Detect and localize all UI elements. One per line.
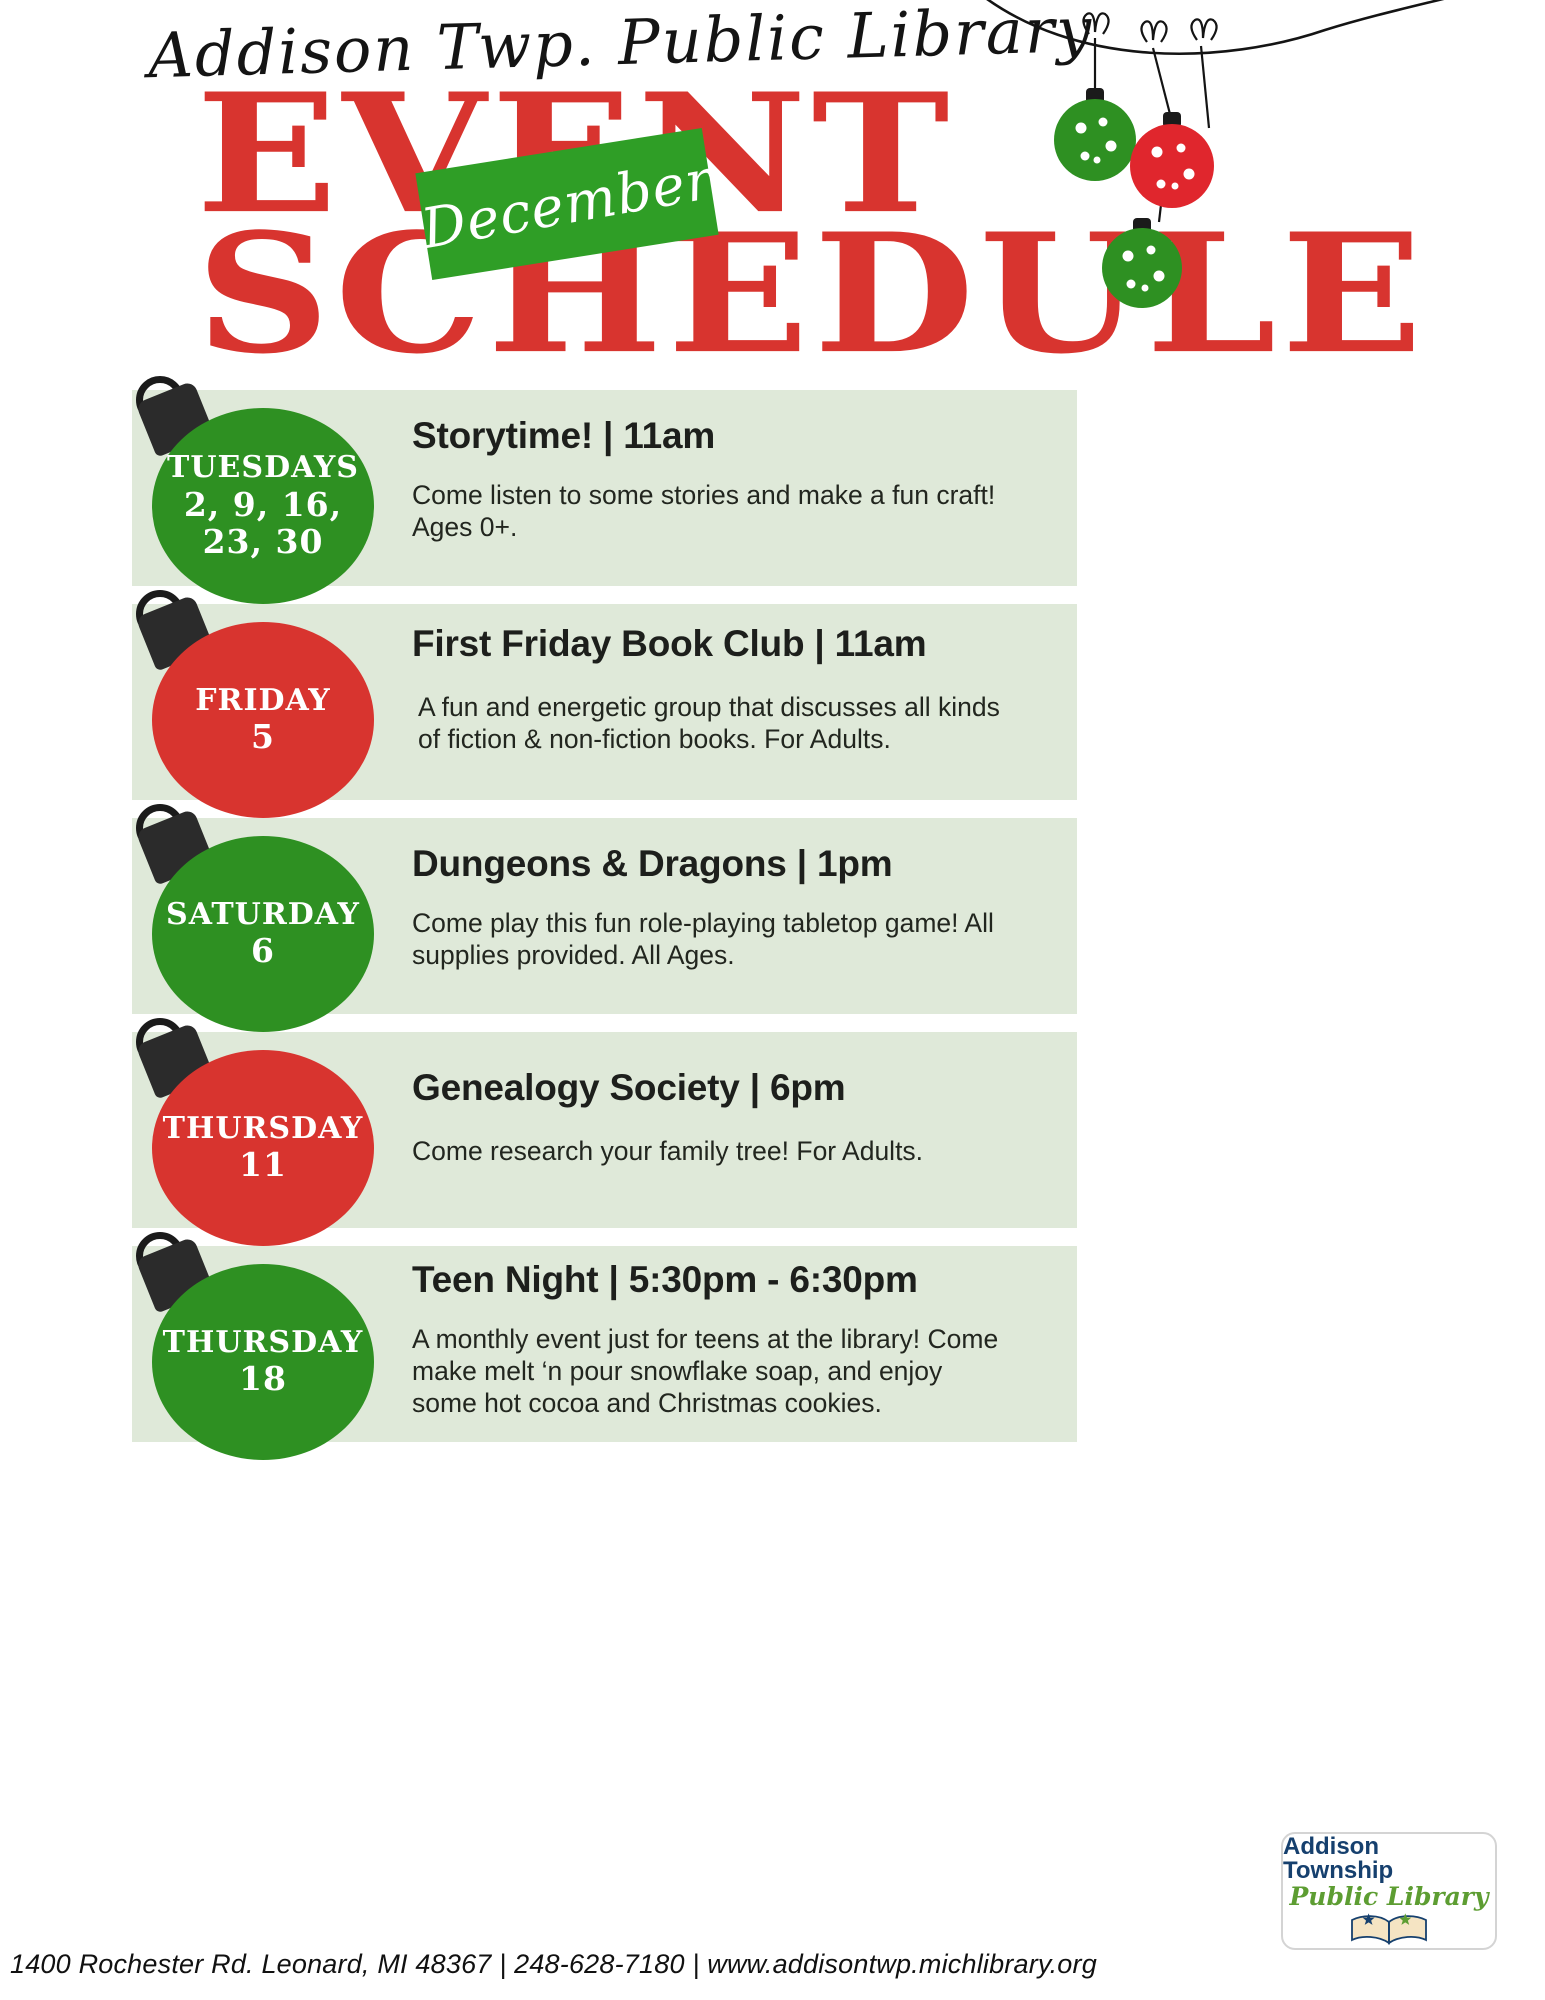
event-list: TUESDAYS 2, 9, 16, 23, 30 Storytime! | 1… (0, 390, 1545, 1460)
event-badge-day: FRIDAY (195, 684, 330, 718)
event-content: First Friday Book Club | 11am A fun and … (412, 624, 1062, 755)
event-title: First Friday Book Club | 11am (412, 624, 1062, 665)
event-badge-circle: FRIDAY 5 (152, 622, 374, 818)
event-description: Come research your family tree! For Adul… (412, 1135, 1062, 1167)
event-badge-circle: THURSDAY 11 (152, 1050, 374, 1246)
event-date-badge: TUESDAYS 2, 9, 16, 23, 30 (136, 390, 364, 600)
ornaments-svg (985, 0, 1545, 340)
event-badge-dates: 2, 9, 16, 23, 30 (184, 487, 342, 561)
event-badge-day: SATURDAY (166, 898, 360, 932)
event-date-badge: FRIDAY 5 (136, 604, 364, 814)
event-content: Dungeons & Dragons | 1pm Come play this … (412, 844, 1062, 971)
event-badge-dates: 5 (251, 719, 275, 756)
event-date-badge: THURSDAY 18 (136, 1246, 364, 1456)
event-description: Come listen to some stories and make a f… (412, 479, 1062, 544)
event-badge-circle: SATURDAY 6 (152, 836, 374, 1032)
event-description: A monthly event just for teens at the li… (412, 1323, 1062, 1420)
flyer-page: Addison Twp. Public Library EVENT SCHEDU… (0, 0, 1545, 2000)
event-row: THURSDAY 11 Genealogy Society | 6pm Come… (0, 1032, 1545, 1228)
logo-line-2: Public Library (1290, 1884, 1489, 1910)
event-title: Teen Night | 5:30pm - 6:30pm (412, 1260, 1062, 1301)
event-row: SATURDAY 6 Dungeons & Dragons | 1pm Come… (0, 818, 1545, 1014)
event-title: Storytime! | 11am (412, 416, 1062, 457)
event-description: Come play this fun role-playing tabletop… (412, 907, 1062, 972)
event-row: THURSDAY 18 Teen Night | 5:30pm - 6:30pm… (0, 1246, 1545, 1442)
logo-line-1: Addison Township (1283, 1835, 1495, 1883)
event-badge-dates: 6 (251, 933, 275, 970)
event-badge-dates: 18 (239, 1361, 287, 1398)
library-logo: Addison Township Public Library (1281, 1832, 1497, 1950)
event-content: Genealogy Society | 6pm Come research yo… (412, 1068, 1062, 1167)
event-row: FRIDAY 5 First Friday Book Club | 11am A… (0, 604, 1545, 800)
open-book-icon (1346, 1912, 1432, 1951)
event-content: Storytime! | 11am Come listen to some st… (412, 416, 1062, 543)
flyer-header: Addison Twp. Public Library EVENT SCHEDU… (0, 0, 1545, 390)
footer-contact-info: 1400 Rochester Rd. Leonard, MI 48367 | 2… (10, 1949, 1097, 1980)
event-content: Teen Night | 5:30pm - 6:30pm A monthly e… (412, 1260, 1062, 1420)
event-badge-circle: TUESDAYS 2, 9, 16, 23, 30 (152, 408, 374, 604)
event-row: TUESDAYS 2, 9, 16, 23, 30 Storytime! | 1… (0, 390, 1545, 586)
event-badge-day: TUESDAYS (167, 451, 359, 485)
event-title: Genealogy Society | 6pm (412, 1068, 1062, 1109)
event-description: A fun and energetic group that discusses… (412, 691, 1062, 756)
event-date-badge: THURSDAY 11 (136, 1032, 364, 1242)
event-title: Dungeons & Dragons | 1pm (412, 844, 1062, 885)
hanging-ornaments-decoration (985, 0, 1545, 340)
event-date-badge: SATURDAY 6 (136, 818, 364, 1028)
event-badge-circle: THURSDAY 18 (152, 1264, 374, 1460)
event-badge-day: THURSDAY (163, 1112, 364, 1146)
event-badge-day: THURSDAY (163, 1326, 364, 1360)
event-badge-dates: 11 (239, 1147, 287, 1184)
